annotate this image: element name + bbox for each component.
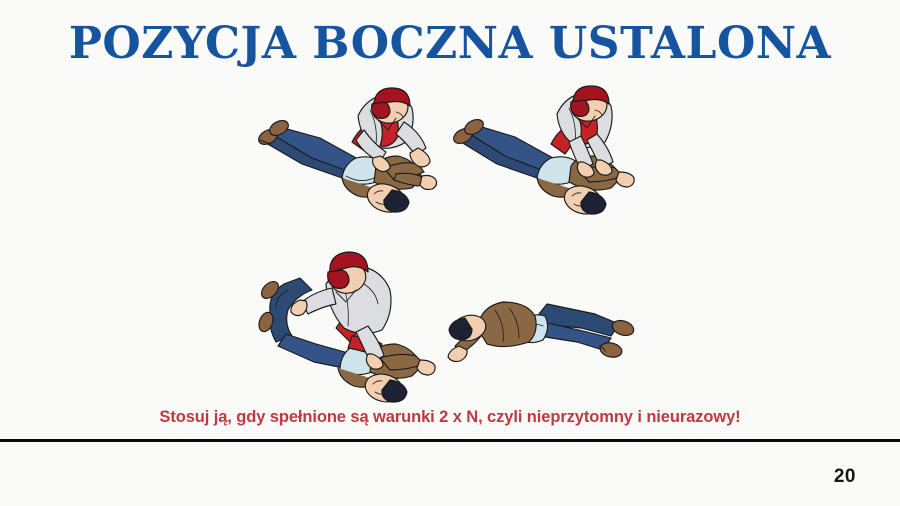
illustration-step-2 xyxy=(443,86,643,231)
footer-divider xyxy=(0,439,900,442)
illustration-step-3 xyxy=(240,250,450,400)
step-3-rolling-onto-side-graphic xyxy=(240,250,450,400)
illustration-group xyxy=(0,84,900,396)
illustration-step-4 xyxy=(443,280,643,390)
step-1-victim-on-back-graphic xyxy=(246,86,446,231)
slide-caption: Stosuj ją, gdy spełnione są warunki 2 x … xyxy=(0,408,900,427)
step-2-arm-and-knee-positioned-graphic xyxy=(443,86,643,231)
step-4-final-recovery-position-graphic xyxy=(443,280,643,390)
page-title: POZYCJA BOCZNA USTALONA xyxy=(0,21,900,67)
illustration-step-1 xyxy=(246,86,446,231)
slide-canvas: POZYCJA BOCZNA USTALONA xyxy=(0,0,900,506)
page-number: 20 xyxy=(834,466,856,488)
